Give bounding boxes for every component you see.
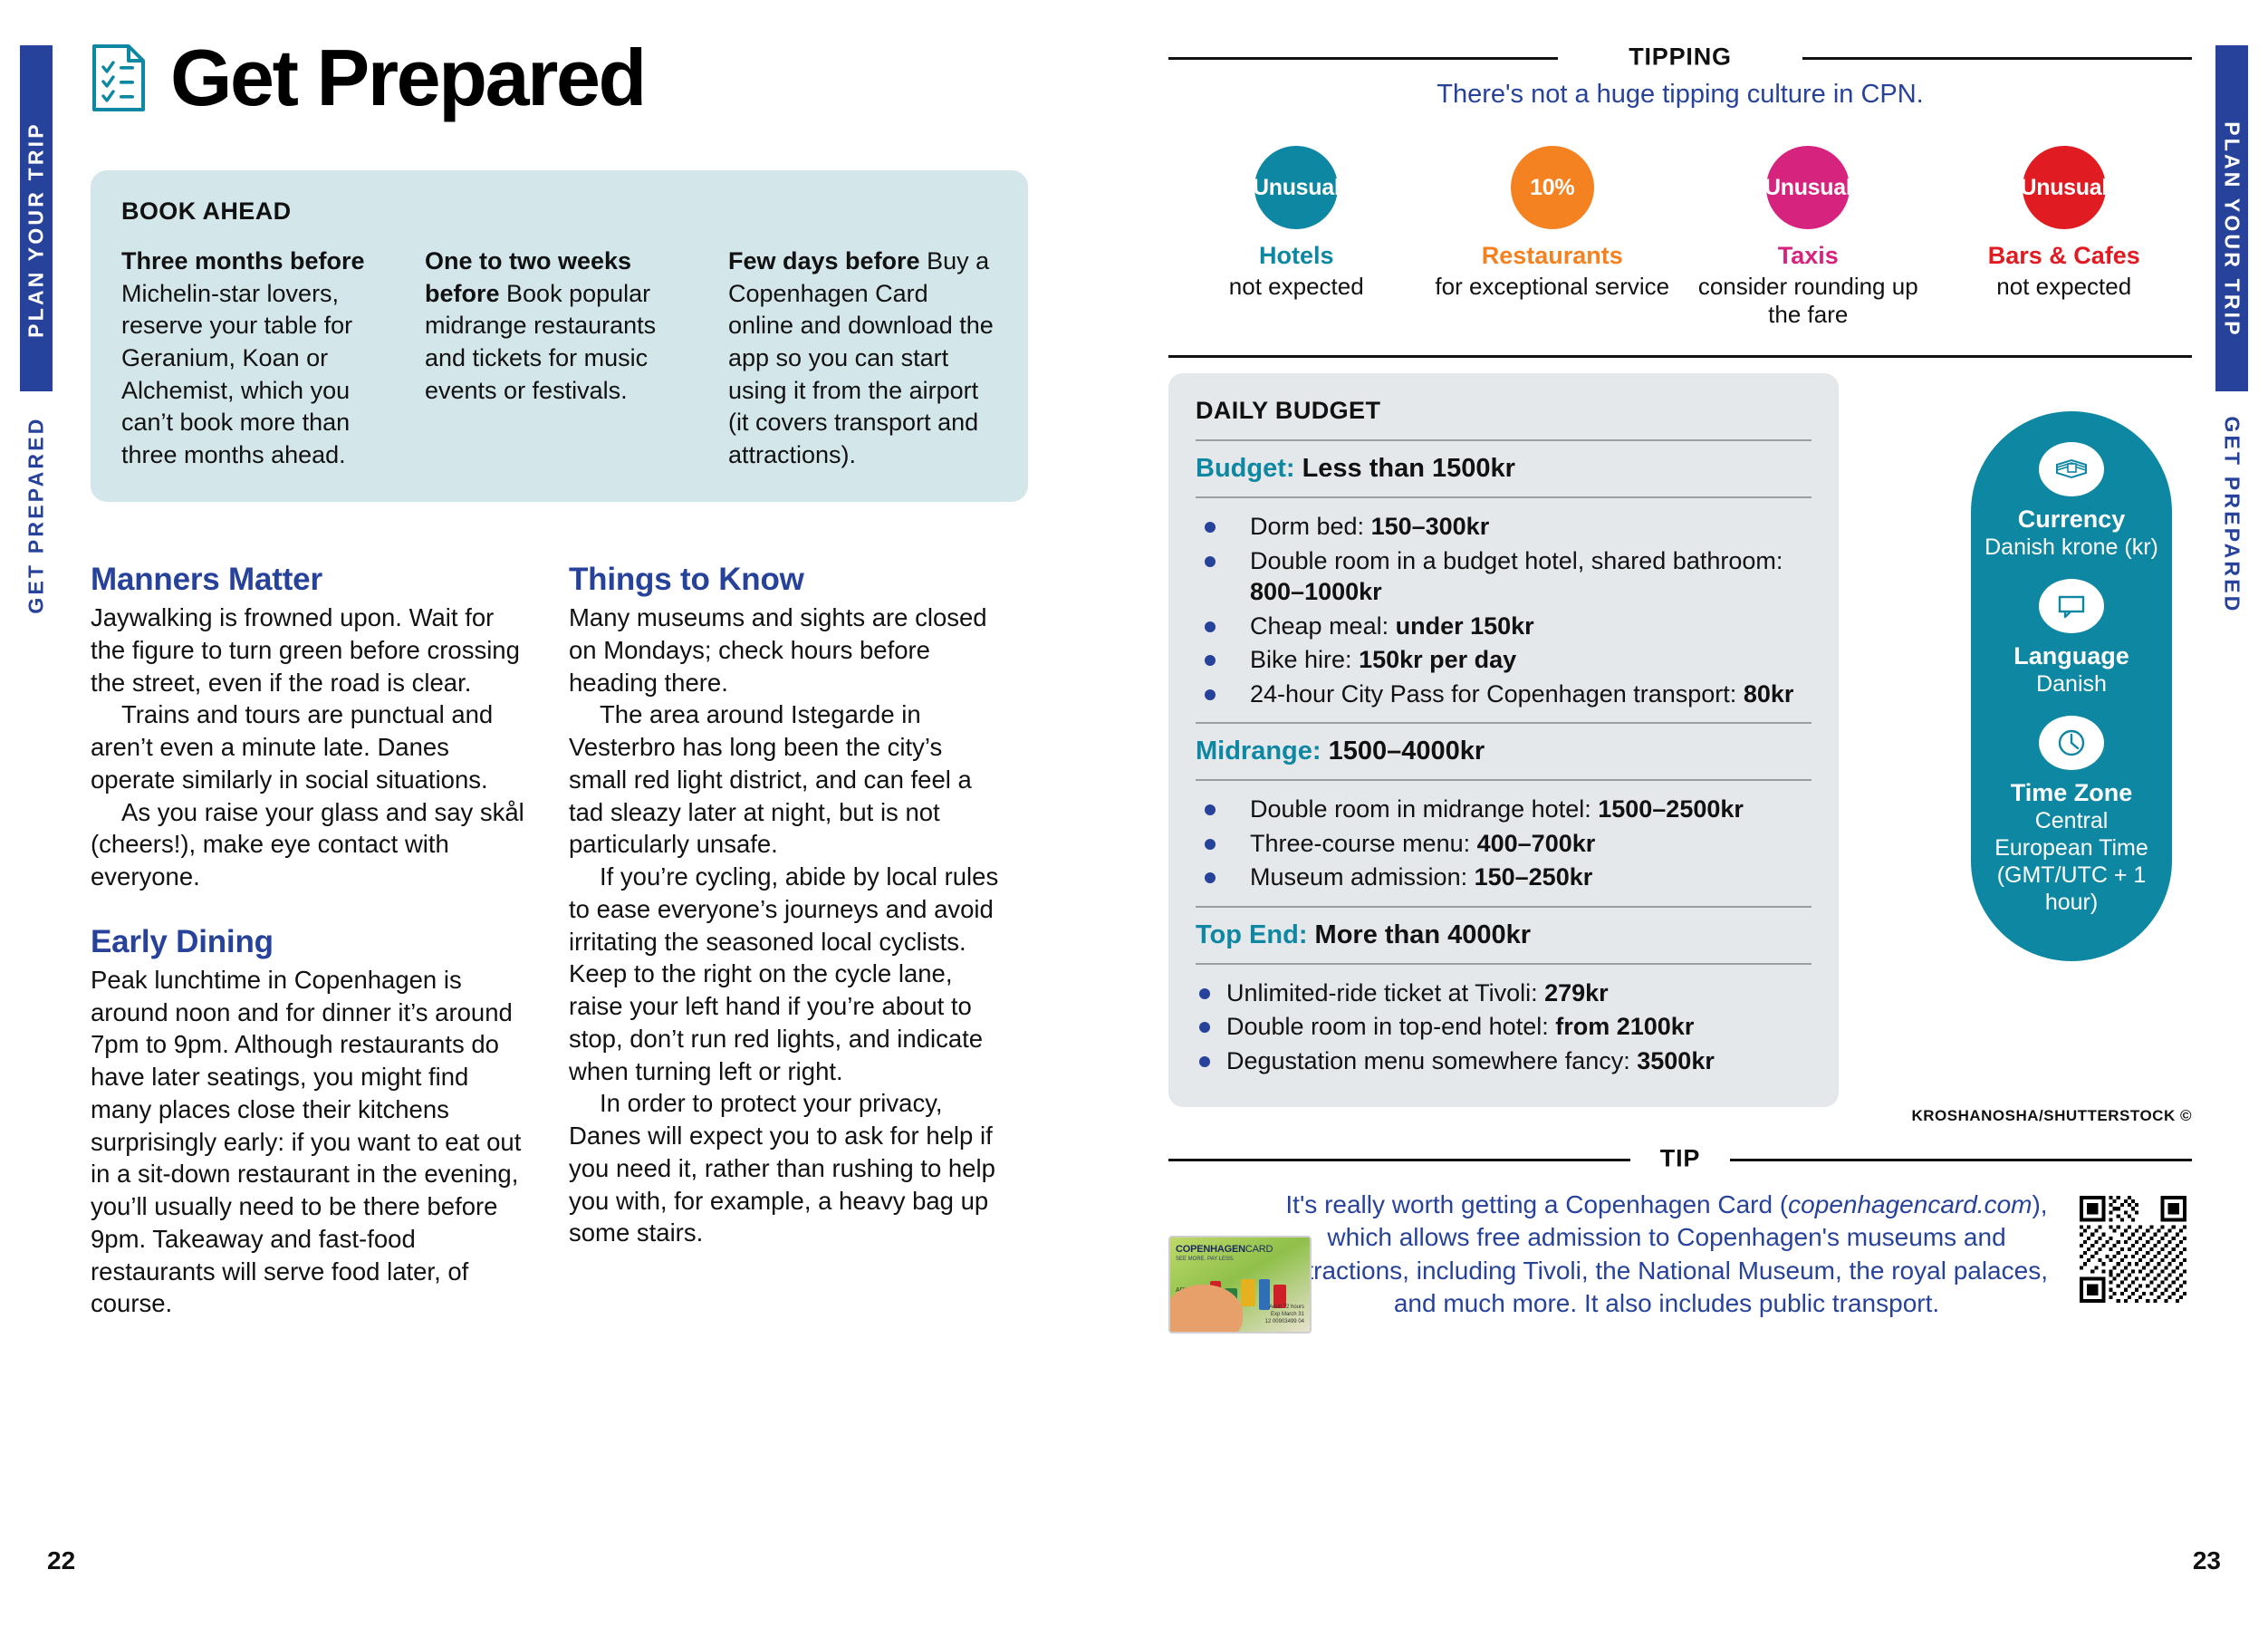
left-body-columns: Manners Matter Jaywalking is frowned upo… [91,562,1028,1320]
copenhagen-card-image: COPENHAGENCARD SEE MORE. PAY LESS. ADULT… [1168,1236,1312,1334]
divider [1196,906,1812,908]
budget-item: Degustation menu somewhere fancy: 3500kr [1196,1045,1812,1077]
tipping-badge: Unusual [1254,146,1338,229]
tip-section: TIP It's really worth getting a Copenhag… [1168,1143,2192,1321]
fact-title-timezone: Time Zone [1984,779,2159,807]
budget-item-value: under 150kr [1396,612,1534,640]
tipping-badge: 10% [1511,146,1594,229]
paragraph: The area around Istegarde in Vesterbro h… [569,698,1004,861]
tip-body: It's really worth getting a Copenhagen C… [1168,1180,2192,1321]
photo-credit: KROSHANOSHA/SHUTTERSTOCK © [1911,1107,2192,1125]
rule-right [1730,1159,2192,1161]
budget-item-value: 150–300kr [1371,513,1490,540]
paragraph: Many museums and sights are closed on Mo… [569,602,1004,698]
budget-tier-label: Midrange: [1196,737,1321,766]
left-page: Get Prepared BOOK AHEAD Three months bef… [91,0,1105,1637]
page-title-row: Get Prepared [91,38,645,118]
budget-item: Bike hire: 150kr per day [1196,644,1812,676]
book-ahead-columns: Three months before Michelin-star lovers… [121,246,997,471]
checklist-document-icon [91,43,147,113]
tipping-name: Taxis [1680,242,1936,270]
divider [1196,439,1812,441]
budget-item-value: 150–250kr [1475,863,1593,891]
tip-text-before: It's really worth getting a Copenhagen C… [1285,1190,1788,1218]
tipping-badge: Unusual [1766,146,1850,229]
tipping-rule-heading: TIPPING [1168,42,2192,72]
card-title-bold: COPENHAGEN [1176,1244,1245,1255]
tipping-items: Unusual Hotels not expected 10% Restaura… [1168,146,2192,329]
rule-left [1168,1159,1630,1161]
paragraph: Peak lunchtime in Copenhagen is around n… [91,964,525,1320]
left-tab-chapter-label: GET PREPARED [24,416,49,613]
tipping-note: not expected [1168,273,1425,301]
budget-item-list: Unlimited-ride ticket at Tivoli: 279kr D… [1196,977,1812,1077]
budget-tier-range: 1500–4000kr [1321,737,1485,766]
section-heading-things-to-know: Things to Know [569,562,1004,598]
budget-item-value: 400–700kr [1477,830,1596,857]
tipping-note: for exceptional service [1425,273,1681,301]
fact-value-timezone: Central European Time (GMT/UTC + 1 hour) [1984,807,2159,916]
budget-item-text: Unlimited-ride ticket at Tivoli: [1226,979,1544,1006]
budget-item-value: 150kr per day [1359,646,1516,673]
tip-heading: TIP [1646,1145,1715,1173]
budget-item: Three-course menu: 400–700kr [1196,828,1812,860]
tipping-name: Bars & Cafes [1936,242,2193,270]
budget-tier-label: Budget: [1196,454,1295,483]
fact-value-language: Danish [1984,670,2159,698]
tipping-item: Unusual Bars & Cafes not expected [1936,146,2193,329]
budget-tier-range: More than 4000kr [1307,920,1531,949]
budget-item: Double room in top-end hotel: from 2100k… [1196,1011,1812,1043]
budget-item-value: 800–1000kr [1250,578,1382,605]
card-footer: Adult 72 hoursExp March 3112 00903499 04 [1265,1305,1304,1325]
tipping-note: not expected [1936,273,2193,301]
paragraph: In order to protect your privacy, Danes … [569,1087,1004,1249]
folio-right: 23 [2193,1546,2221,1575]
budget-item-list: Double room in midrange hotel: 1500–2500… [1196,794,1812,893]
budget-item-text: Double room in a budget hotel, shared ba… [1250,547,1783,574]
tipping-section: TIPPING There's not a huge tipping cultu… [1168,42,2192,329]
tipping-note: consider rounding up the fare [1680,273,1936,329]
section-heading-early-dining: Early Dining [91,924,525,960]
book-ahead-heading: BOOK AHEAD [121,197,997,226]
money-stack-icon [2039,442,2104,496]
book-ahead-lead: Few days before [728,247,920,274]
card-title: COPENHAGENCARD [1176,1244,1273,1255]
budget-tier-range: Less than 1500kr [1295,454,1515,483]
book-ahead-panel: BOOK AHEAD Three months before Michelin-… [91,170,1028,502]
divider [1196,779,1812,781]
budget-item-text: Double room in top-end hotel: [1226,1013,1555,1040]
budget-item-text: 24-hour City Pass for Copenhagen transpo… [1250,680,1744,708]
budget-item-value: 80kr [1744,680,1794,708]
tip-link[interactable]: copenhagencard.com [1788,1190,2032,1218]
country-facts-pill: Currency Danish krone (kr) Language Dani… [1971,411,2172,961]
budget-item: Museum admission: 150–250kr [1196,862,1812,893]
clock-icon [2039,716,2104,770]
divider [1196,496,1812,498]
budget-and-facts: DAILY BUDGET Budget: Less than 1500kr Do… [1168,373,2192,1107]
body-column-one: Manners Matter Jaywalking is frowned upo… [91,562,525,1320]
book-ahead-lead: Three months before [121,247,365,274]
budget-item-text: Museum admission: [1250,863,1475,891]
body-column-two: Things to Know Many museums and sights a… [569,562,1004,1320]
rule-left [1168,57,1558,60]
right-edge-tab: PLAN YOUR TRIP GET PREPARED [2215,0,2248,1637]
rule-right [1802,57,2192,60]
right-tab-chapter-label: GET PREPARED [2220,416,2244,613]
qr-code-icon [2080,1196,2186,1303]
paragraph: Jaywalking is frowned upon. Wait for the… [91,602,525,698]
book-ahead-text: Buy a Copenhagen Card online and downloa… [728,247,994,468]
page-title: Get Prepared [170,38,645,118]
left-tab-series-label: PLAN YOUR TRIP [24,121,49,338]
budget-tier-heading: Budget: Less than 1500kr [1196,454,1812,484]
tipping-item: Unusual Hotels not expected [1168,146,1425,329]
speech-bubble-icon [2039,579,2104,633]
budget-item-list: Dorm bed: 150–300kr Double room in a bud… [1196,511,1812,709]
card-title-light: CARD [1245,1244,1273,1255]
budget-item-text: Double room in midrange hotel: [1250,795,1598,823]
daily-budget-panel: DAILY BUDGET Budget: Less than 1500kr Do… [1168,373,1839,1107]
tipping-name: Hotels [1168,242,1425,270]
folio-left: 22 [47,1546,75,1575]
budget-item: Cheap meal: under 150kr [1196,611,1812,642]
budget-item: Dorm bed: 150–300kr [1196,511,1812,543]
budget-item: Double room in midrange hotel: 1500–2500… [1196,794,1812,825]
divider [1196,963,1812,965]
daily-budget-heading: DAILY BUDGET [1196,397,1812,425]
budget-item: 24-hour City Pass for Copenhagen transpo… [1196,679,1812,710]
budget-item-value: 1500–2500kr [1598,795,1744,823]
budget-tier-heading: Midrange: 1500–4000kr [1196,737,1812,766]
budget-item-value: 3500kr [1637,1047,1715,1074]
tipping-name: Restaurants [1425,242,1681,270]
tipping-heading: TIPPING [1614,43,1746,72]
magazine-spread: PLAN YOUR TRIP GET PREPARED PLAN YOUR TR… [0,0,2268,1637]
tipping-item: Unusual Taxis consider rounding up the f… [1680,146,1936,329]
fact-value-currency: Danish krone (kr) [1984,534,2159,561]
fact-title-currency: Currency [1984,506,2159,534]
tipping-subheading: There's not a huge tipping culture in CP… [1168,80,2192,110]
paragraph: If you’re cycling, abide by local rules … [569,861,1004,1087]
right-page: TIPPING There's not a huge tipping cultu… [1168,0,2192,1637]
book-ahead-column: One to two weeks before Book popular mid… [425,246,694,471]
paragraph: Trains and tours are punctual and aren’t… [91,698,525,795]
left-edge-tab: PLAN YOUR TRIP GET PREPARED [20,0,53,1637]
book-ahead-column: Few days before Buy a Copenhagen Card on… [728,246,997,471]
section-divider [1168,355,2192,358]
book-ahead-column: Three months before Michelin-star lovers… [121,246,390,471]
tipping-badge: Unusual [2023,146,2106,229]
budget-item-text: Bike hire: [1250,646,1359,673]
budget-item-value: from 2100kr [1555,1013,1694,1040]
budget-item-text: Dorm bed: [1250,513,1371,540]
right-tab-series-label: PLAN YOUR TRIP [2220,121,2244,338]
book-ahead-text: Michelin-star lovers, reserve your table… [121,280,352,468]
card-decor [1241,1279,1255,1306]
divider [1196,722,1812,724]
budget-tier-heading: Top End: More than 4000kr [1196,920,1812,950]
budget-item-text: Cheap meal: [1250,612,1396,640]
section-heading-manners-matter: Manners Matter [91,562,525,598]
card-subtitle: SEE MORE. PAY LESS. [1176,1257,1235,1262]
fact-title-language: Language [1984,642,2159,670]
budget-item: Unlimited-ride ticket at Tivoli: 279kr [1196,977,1812,1009]
budget-item-value: 279kr [1544,979,1609,1006]
budget-item-text: Three-course menu: [1250,830,1477,857]
paragraph: As you raise your glass and say skål (ch… [91,796,525,893]
budget-item: Double room in a budget hotel, shared ba… [1196,545,1812,608]
budget-item-text: Degustation menu somewhere fancy: [1226,1047,1637,1074]
tipping-item: 10% Restaurants for exceptional service [1425,146,1681,329]
tip-rule-heading: TIP [1168,1143,2192,1174]
budget-tier-label: Top End: [1196,920,1307,949]
